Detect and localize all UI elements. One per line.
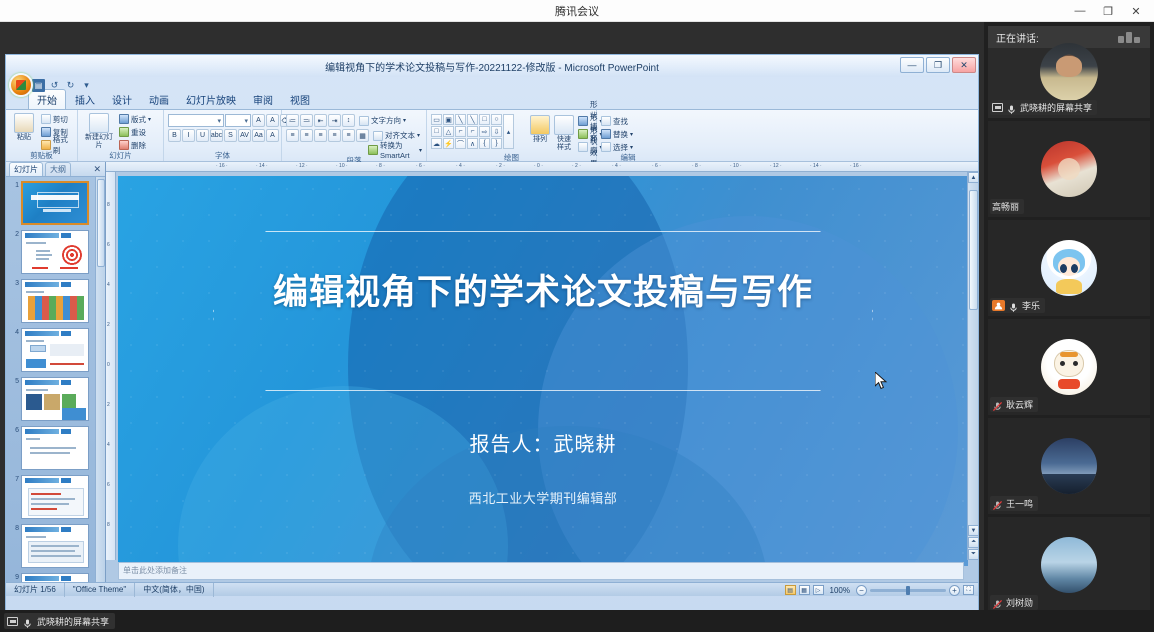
thumbnail-item[interactable]: 3 [12,279,95,323]
group-label-clipboard: 剪贴板 [10,151,73,161]
delete-label: 删除 [131,140,146,151]
shape-angle-icon[interactable]: ∧ [467,138,478,149]
slide-title[interactable]: 编辑视角下的学术论文投稿与写作 [118,264,968,315]
ribbon-group-slides: 新建幻灯片 版式▾ 重设 [78,110,164,161]
office-button-icon[interactable] [9,73,33,97]
participant-nametag: 武晓耕的屏幕共享 [990,100,1097,115]
character-spacing-button[interactable]: AV [238,129,251,142]
justify-icon[interactable]: ≡ [328,129,341,142]
zoom-slider-handle[interactable] [906,586,910,595]
group-label-slides: 幻灯片 [82,151,159,161]
select-button[interactable]: 选择▾ [601,141,633,153]
powerpoint-main-area: 幻灯片 大纲 ✕ 1 [6,162,978,582]
italic-button[interactable]: I [182,129,195,142]
participant-nametag: 李乐 [990,298,1045,313]
participant-nametag: 高畅丽 [990,199,1024,214]
thumbnail-preview[interactable] [21,181,89,225]
paste-button[interactable]: 粘贴 [10,112,38,142]
shape-effects-icon [578,142,588,152]
convert-smartart-button[interactable]: 转换为 SmartArt▾ [368,144,422,156]
thumbnail-number: 3 [12,279,19,323]
quick-access-toolbar: ▤ ↺ ↻ ▾ [6,77,978,93]
thumbnail-number: 9 [12,573,19,582]
align-right-icon[interactable]: ≡ [314,129,327,142]
meeting-titlebar: 腾讯会议 — ❐ ✕ [0,0,1154,22]
quick-styles-button[interactable]: 快速样式 [554,114,574,152]
redo-icon[interactable]: ↻ [64,79,77,92]
screen-share-icon [992,103,1003,112]
slide-vertical-scrollbar[interactable]: ▲ ▼ ⏶ ⏷ [967,172,978,560]
avatar [1041,240,1097,296]
shape-textbox-icon[interactable]: ▭ [431,114,442,125]
cut-label: 剪切 [53,114,68,125]
numbering-icon[interactable]: ≕ [300,114,313,127]
text-direction-icon [359,116,369,126]
thumbnail-number: 5 [12,377,19,421]
shadow-button[interactable]: S [224,129,237,142]
participant-name: 王一鸣 [1006,497,1033,510]
thumbnail-number: 4 [12,328,19,372]
replace-icon [601,129,611,139]
zoom-out-button[interactable]: − [856,585,867,596]
layout-button[interactable]: 版式▾ [119,113,151,125]
shape-curve2-icon[interactable]: ⌒ [455,138,466,149]
bold-button[interactable]: B [168,129,181,142]
participant-nametag: 王一鸣 [990,496,1038,511]
thumbnail-preview[interactable] [21,475,89,519]
shape-cloud-icon[interactable]: ☁ [431,138,442,149]
next-slide-icon[interactable]: ⏷ [968,549,979,560]
vertical-ruler: 8 6 4 2 0 2 4 6 8 [106,172,116,560]
shape-arrow-icon[interactable]: ╲ [467,114,478,125]
host-icon [992,300,1005,311]
shape-square-icon[interactable]: □ [431,126,442,137]
thumbnail-item[interactable]: 2 [12,230,95,274]
thumbnail-preview[interactable] [21,279,89,323]
shape-brace-l-icon[interactable]: { [479,138,490,149]
zoom-slider[interactable] [870,589,946,592]
normal-view-icon[interactable]: ▤ [785,585,796,595]
smartart-icon [368,145,378,155]
thumbnail-item[interactable]: 6 [12,426,95,470]
powerpoint-window-controls: — ❐ ✕ [900,57,976,73]
quick-styles-label: 快速样式 [554,136,574,152]
participants-sidebar: 正在讲话: 武晓耕的屏幕共享 高畅丽 [984,22,1154,610]
screen-share-icon [7,617,18,626]
thumbnail-number: 1 [12,181,19,225]
change-case-button[interactable]: Aa [252,129,265,142]
ribbon-body: 粘贴 剪切 复制 [6,110,978,162]
shapes-scroll-icon[interactable]: ▴ [503,114,514,149]
arrange-label: 排列 [533,136,547,144]
ribbon-tabs: 开始 插入 设计 动画 幻灯片放映 审阅 视图 [6,93,978,110]
mic-muted-icon [992,399,1003,410]
mic-muted-icon [992,498,1003,509]
thumbnail-preview[interactable] [21,573,89,582]
zoom-in-button[interactable]: + [949,585,960,596]
maximize-icon[interactable]: ❐ [1094,0,1122,22]
avatar [1041,438,1097,494]
ppt-minimize-icon[interactable]: — [900,57,924,73]
thumbnail-list[interactable]: 1 2 [6,177,105,582]
strikethrough-button[interactable]: abc [210,129,223,142]
mic-muted-icon [992,597,1003,608]
save-icon[interactable]: ▤ [32,79,45,92]
line-spacing-icon[interactable]: ↕ [342,114,355,127]
slide-scrollbar-handle[interactable] [969,190,978,310]
zoom-level: 100% [827,586,853,595]
participant-name: 高畅丽 [992,200,1019,213]
scroll-down-icon[interactable]: ▼ [968,525,979,536]
shapes-gallery[interactable]: ▭ ▣ ╲ ╲ □ ○ ▴ □ △ ⌐ ⌐ ⇨ [431,114,526,149]
ribbon-group-drawing: ▭ ▣ ╲ ╲ □ ○ ▴ □ △ ⌐ ⌐ ⇨ [427,110,597,161]
layout-label: 版式 [131,114,146,125]
theme-name[interactable]: "Office Theme" [65,583,135,597]
speaking-label: 正在讲话: [996,30,1039,45]
meeting-bottom-bar: 武晓耕的屏幕共享 [0,610,1154,632]
powerpoint-status-bar: 幻灯片 1/56 "Office Theme" 中文(简体，中国) ▤ ▦ ▷ … [6,582,978,596]
participant-name: 李乐 [1022,299,1040,312]
thumbnail-item[interactable]: 5 [12,377,95,421]
participant-tile[interactable]: 王一鸣 [988,418,1150,514]
slide-sorter-view-icon[interactable]: ▦ [799,585,810,595]
paintbrush-icon [41,140,51,150]
mic-icon [1008,300,1019,311]
powerpoint-window: 编辑视角下的学术论文投稿与写作-20221122-修改版 - Microsoft… [5,54,979,610]
status-right-controls: ▤ ▦ ▷ 100% − + ⛶ [785,583,974,597]
find-button[interactable]: 查找 [601,115,633,127]
avatar [1041,339,1097,395]
fit-to-window-icon[interactable]: ⛶ [963,585,974,595]
shape-triangle-icon[interactable]: △ [443,126,454,137]
notes-pane[interactable]: 单击此处添加备注 [118,562,964,580]
underline-button[interactable]: U [196,129,209,142]
shape-line-icon[interactable]: ╲ [455,114,466,125]
slides-thumbnail-pane: 幻灯片 大纲 ✕ 1 [6,162,106,582]
thumbnail-number: 6 [12,426,19,470]
select-label: 选择 [613,142,628,153]
avatar [1041,537,1097,593]
screen-share-owner: 武晓耕的屏幕共享 [37,615,109,628]
scroll-up-icon[interactable]: ▲ [968,172,979,183]
mic-icon [1006,102,1017,113]
thumbnail-preview[interactable] [21,328,89,372]
columns-icon[interactable]: ▦ [356,129,369,142]
meeting-window-controls: — ❐ ✕ [1066,0,1150,22]
bullets-icon[interactable]: ≔ [286,114,299,127]
ribbon-group-editing: 查找 替换▾ 选择▾ [597,110,659,161]
cut-button[interactable]: 剪切 [41,113,73,125]
shape-oval-icon[interactable]: ○ [491,114,502,125]
font-size-select[interactable]: ▾ [225,114,251,127]
thumbnail-number: 8 [12,524,19,568]
text-direction-button[interactable]: 文字方向▾ [359,115,406,127]
screen-root: 腾讯会议 — ❐ ✕ 编辑视角下的学术论文投稿与写作-20221122-修改版 … [0,0,1154,632]
participant-tile[interactable]: 正在讲话: 武晓耕的屏幕共享 [988,26,1150,118]
meeting-app-title: 腾讯会议 [555,3,599,19]
shape-fill-icon [578,116,588,126]
pane-close-icon[interactable]: ✕ [93,164,101,175]
pane-tabs: 幻灯片 大纲 ✕ [6,162,105,177]
shape-curve-icon[interactable]: ⌐ [455,126,466,137]
powerpoint-title: 编辑视角下的学术论文投稿与写作-20221122-修改版 - Microsoft… [325,59,659,74]
shape-brace-r-icon[interactable]: } [491,138,502,149]
slide-presenter[interactable]: 报告人：武晓耕 [118,428,968,457]
ppt-restore-icon[interactable]: ❐ [926,57,950,73]
thumbnail-item[interactable]: 1 [12,181,95,225]
avatar [1040,43,1098,101]
font-color-button[interactable]: A [266,129,279,142]
ribbon-group-paragraph: ≔ ≕ ⇤ ⇥ ↕ 文字方向▾ ≡ [282,110,427,161]
participant-tile[interactable]: 李乐 [988,220,1150,316]
shared-screen-area: 编辑视角下的学术论文投稿与写作-20221122-修改版 - Microsoft… [0,22,984,610]
delete-icon [119,140,129,150]
thumbnail-item[interactable]: 9 [12,573,95,582]
ribbon-group-clipboard: 粘贴 剪切 复制 [6,110,78,161]
mic-icon [22,616,33,627]
slide-counter: 幻灯片 1/56 [6,583,65,597]
thumbnail-item[interactable]: 8 [12,524,95,568]
slide-canvas[interactable]: 编辑视角下的学术论文投稿与写作 报告人：武晓耕 西北工业大学期刊编辑部 [118,176,968,566]
delete-slide-button[interactable]: 删除 [119,139,151,151]
horizontal-ruler: · 16 · · 14 · · 12 · · 10 · · 8 · · 6 · … [106,162,978,172]
replace-button[interactable]: 替换▾ [601,128,633,140]
new-slide-button[interactable]: 新建幻灯片 [82,112,116,150]
thumbnail-scrollbar[interactable] [95,177,105,582]
reset-button[interactable]: 重设 [119,126,151,138]
undo-icon[interactable]: ↺ [48,79,61,92]
paste-label: 粘贴 [17,134,31,142]
distribute-icon[interactable]: ≡ [342,129,355,142]
reset-label: 重设 [131,127,146,138]
thumbnail-number: 7 [12,475,19,519]
participant-name: 耿云辉 [1006,398,1033,411]
shape-freeform-icon[interactable]: ⌐ [467,126,478,137]
align-left-icon[interactable]: ≡ [286,129,299,142]
format-painter-button[interactable]: 格式刷 [41,139,73,151]
copy-icon [41,127,51,137]
new-slide-label: 新建幻灯片 [82,134,116,150]
replace-label: 替换 [613,129,628,140]
thumbnail-preview[interactable] [21,377,89,421]
close-icon[interactable]: ✕ [1122,0,1150,22]
shape-rect-icon[interactable]: □ [479,114,490,125]
participant-name: 武晓耕的屏幕共享 [1020,101,1092,114]
ppt-close-icon[interactable]: ✕ [952,57,976,73]
decrease-indent-icon[interactable]: ⇤ [314,114,327,127]
text-direction-label: 文字方向 [371,115,401,126]
align-text-icon [373,131,383,141]
participant-tile[interactable]: 耿云辉 [988,319,1150,415]
find-icon [601,116,611,126]
layout-icon [119,114,129,124]
minimize-icon[interactable]: — [1066,0,1094,22]
find-label: 查找 [613,116,628,127]
shape-flash-icon[interactable]: ⚡ [443,138,454,149]
tab-slides[interactable]: 幻灯片 [9,162,43,176]
shape-image-icon[interactable]: ▣ [443,114,454,125]
group-label-font: 字体 [168,151,277,161]
meeting-body: 编辑视角下的学术论文投稿与写作-20221122-修改版 - Microsoft… [0,22,1154,610]
shape-arrow3-icon[interactable]: ⇩ [491,126,502,137]
select-icon [601,142,611,152]
shape-arrow2-icon[interactable]: ⇨ [479,126,490,137]
arrange-button[interactable]: 排列 [530,114,550,144]
align-center-icon[interactable]: ≡ [300,129,313,142]
font-family-select[interactable]: ▾ [168,114,224,127]
participant-nametag: 刘树勋 [990,595,1038,610]
thumbnail-preview[interactable] [21,524,89,568]
audio-wave-icon [1118,32,1140,43]
thumbnail-preview[interactable] [21,426,89,470]
tab-outline[interactable]: 大纲 [45,162,71,176]
participant-name: 刘树勋 [1006,596,1033,609]
customize-qat-icon[interactable]: ▾ [80,79,93,92]
shape-outline-icon [578,129,588,139]
thumbnail-item[interactable]: 4 [12,328,95,372]
participant-tile[interactable]: 高畅丽 [988,121,1150,217]
scissors-icon [41,114,51,124]
participant-tile[interactable]: 刘树勋 [988,517,1150,613]
slideshow-view-icon[interactable]: ▷ [813,585,824,595]
thumbnail-preview[interactable] [21,230,89,274]
previous-slide-icon[interactable]: ⏶ [968,537,979,548]
language-indicator[interactable]: 中文(简体，中国) [135,583,213,597]
thumbnail-number: 2 [12,230,19,274]
increase-indent-icon[interactable]: ⇥ [328,114,341,127]
ribbon-group-font: ▾ ▾ A A ⌫ B I U abc S [164,110,282,161]
slide-editing-pane: · 16 · · 14 · · 12 · · 10 · · 8 · · 6 · … [106,162,978,582]
avatar [1041,141,1097,197]
thumbnail-item[interactable]: 7 [12,475,95,519]
decrease-font-size-icon[interactable]: A [266,114,279,127]
thumbnail-scrollbar-handle[interactable] [97,179,105,267]
screen-share-tag: 武晓耕的屏幕共享 [4,613,115,629]
participant-nametag: 耿云辉 [990,397,1038,412]
powerpoint-titlebar: 编辑视角下的学术论文投稿与写作-20221122-修改版 - Microsoft… [6,55,978,77]
slide-affiliation[interactable]: 西北工业大学期刊编辑部 [118,488,968,507]
increase-font-size-icon[interactable]: A [252,114,265,127]
reset-icon [119,127,129,137]
